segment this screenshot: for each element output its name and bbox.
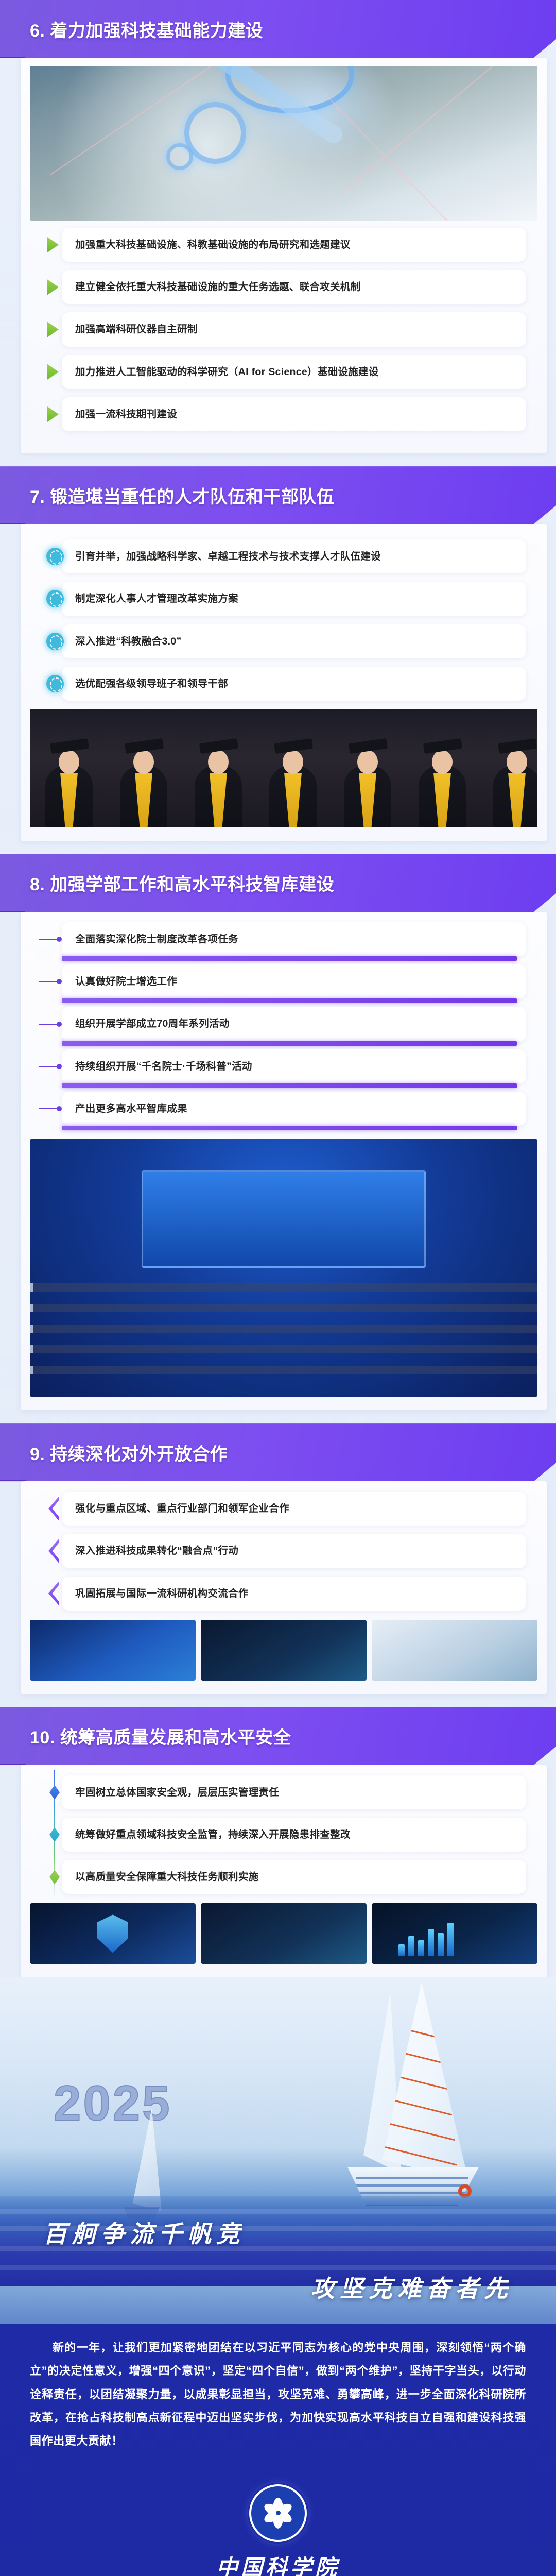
list-item[interactable]: 加强重大科技基础设施、科教基础设施的布局研究和选题建议 [62,228,526,262]
footer: 中国科学院 CHINESE ACADEMY OF SCIENCES [30,2452,526,2576]
shield-security-photo [30,1903,196,1964]
list-item[interactable]: 制定深化人事人才管理改革实施方案 [62,582,526,616]
section-10: 10. 统筹高质量发展和高水平安全 牢固树立总体国家安全观，层层压实管理责任 统… [0,1707,556,1978]
sail-batten [380,2121,455,2141]
bar-chart-icon [398,1923,454,1956]
list-item[interactable]: 加力推进人工智能驱动的科学研究（AI for Science）基础设施建设 [62,355,526,389]
facility-ring-small [166,143,193,170]
circle-marker-icon [46,590,64,607]
arrow-right-icon [47,406,59,422]
list-item[interactable]: 深入推进“科教融合3.0” [62,624,526,658]
audience-row [30,1366,537,1374]
arrow-line-icon [39,1064,62,1069]
graduation-ceremony-photo [30,709,537,827]
list-item[interactable]: 全面落实深化院士制度改革各项任务 [62,922,526,956]
arrow-line-icon [39,979,62,984]
list-item[interactable]: 建立健全依托重大科技基础设施的重大任务选题、联合攻关机制 [62,270,526,304]
arrow-line-icon [39,1106,62,1111]
circle-marker-icon [46,633,64,650]
list-item-text: 统筹做好重点领域科技安全监管，持续深入开展隐患排查整改 [75,1827,351,1842]
section-7-items: 引育并举，加强战略科学家、卓越工程技术与技术支撑人才队伍建设 制定深化人事人才管… [30,539,537,701]
section-8-items: 全面落实深化院士制度改革各项任务 认真做好院士增选工作 组织开展学部成立70周年… [30,922,537,1126]
section-8-card: 全面落实深化院士制度改革各项任务 认真做好院士增选工作 组织开展学部成立70周年… [21,912,547,1410]
hull-stripe [356,2177,468,2179]
divider-right [309,2539,499,2539]
list-item-text: 选优配强各级领导班子和领导干部 [75,676,228,691]
section-9-title: 9. 持续深化对外开放合作 [30,1440,228,1465]
emblem-core [275,2510,282,2516]
calligraphy-line-1: 百舸争流千帆竞 [23,2215,533,2249]
list-item[interactable]: 牢固树立总体国家安全观，层层压实管理责任 [62,1775,526,1809]
section-gap [0,1410,556,1423]
international-cooperation-photos [30,1620,537,1681]
sail-batten [398,2027,441,2039]
organization-name-cn: 中国科学院 [30,2550,526,2576]
graduate-face [283,750,303,774]
list-item-text: 加强重大科技基础设施、科教基础设施的布局研究和选题建议 [75,237,351,252]
small-sail [129,2108,162,2211]
data-chart-photo [372,1903,537,1964]
item-underline-bar [62,998,517,1003]
list-item-text: 建立健全依托重大科技基础设施的重大任务选题、联合攻关机制 [75,279,360,295]
item-underline-bar [62,1041,517,1046]
shield-icon [97,1914,128,1953]
aerial-science-facility-photo [30,66,537,221]
audience-row [30,1345,537,1353]
list-item[interactable]: 加强高端科研仪器自主研制 [62,312,526,346]
list-item[interactable]: 引育并举，加强战略科学家、卓越工程技术与技术支撑人才队伍建设 [62,539,526,573]
conference-screen [142,1170,426,1268]
arrow-right-icon [47,322,59,337]
section-8: 8. 加强学部工作和高水平科技智库建设 全面落实深化院士制度改革各项任务 认真做… [0,854,556,1410]
divider-left [57,2539,247,2539]
list-item[interactable]: 认真做好院士增选工作 [62,964,526,998]
list-item-text: 制定深化人事人才管理改革实施方案 [75,591,238,606]
list-item-text: 持续组织开展“千名院士·千场科普”活动 [75,1059,252,1074]
section-8-banner: 8. 加强学部工作和高水平科技智库建设 [0,854,556,912]
graduate-face [59,750,79,774]
section-7-banner: 7. 锻造堪当重任的人才队伍和干部队伍 [0,466,556,524]
section-gap [0,453,556,466]
list-item-text: 产出更多高水平智库成果 [75,1101,187,1116]
list-item-text: 加强高端科研仪器自主研制 [75,321,198,337]
laptop-typing-photo [201,1903,367,1964]
list-item-text: 牢固树立总体国家安全观，层层压实管理责任 [75,1785,279,1800]
chevron-left-icon [48,1497,59,1520]
audience-row [30,1283,537,1292]
section-7: 7. 锻造堪当重任的人才队伍和干部队伍 引育并举，加强战略科学家、卓越工程技术与… [0,466,556,841]
list-item-text: 强化与重点区域、重点行业部门和领军企业合作 [75,1501,289,1516]
handshake-photo [201,1620,367,1681]
list-item[interactable]: 深入推进科技成果转化“融合点”行动 [62,1534,526,1568]
list-item[interactable]: 统筹做好重点领域科技安全监管，持续深入开展隐患排查整改 [62,1818,526,1852]
academic-conference-hall-photo [30,1139,537,1397]
list-item[interactable]: 以高质量安全保障重大科技任务顺利实施 [62,1860,526,1894]
section-9-banner: 9. 持续深化对外开放合作 [0,1423,556,1481]
graduate-face [208,750,229,774]
conference-photo [30,1620,196,1681]
arrow-line-icon [39,1022,62,1027]
section-gap [0,1694,556,1707]
arrow-right-icon [47,237,59,252]
list-item-text: 组织开展学部成立70周年系列活动 [75,1016,230,1031]
circle-marker-icon [46,675,64,692]
section-10-items: 牢固树立总体国家安全观，层层压实管理责任 统筹做好重点领域科技安全监管，持续深入… [30,1775,537,1894]
section-9-items: 强化与重点区域、重点行业部门和领军企业合作 深入推进科技成果转化“融合点”行动 … [30,1492,537,1611]
item-underline-bar [62,1126,517,1130]
section-gap [0,841,556,854]
wave-line [0,2209,556,2214]
calligraphy-line-2: 攻坚克难奋者先 [23,2270,533,2304]
list-item-text: 认真做好院士增选工作 [75,974,177,989]
chevron-left-icon [48,1582,59,1605]
section-8-title: 8. 加强学部工作和高水平科技智库建设 [30,870,334,895]
infographic-page: 6. 着力加强科技基础能力建设 加强重大科技基础设施、科教基础设施的布局研究和选… [0,0,556,2576]
list-item[interactable]: 产出更多高水平智库成果 [62,1092,526,1126]
list-item[interactable]: 持续组织开展“千名院士·千场科普”活动 [62,1049,526,1083]
item-underline-bar [62,956,517,961]
arrow-right-icon [47,279,59,295]
sail-batten [392,2049,445,2064]
astronaut-photo [372,1620,537,1681]
list-item-text: 深入推进科技成果转化“融合点”行动 [75,1543,238,1558]
item-underline-bar [62,1083,517,1088]
section-9-card: 强化与重点区域、重点行业部门和领军企业合作 深入推进科技成果转化“融合点”行动 … [21,1481,547,1694]
hull-stripe [356,2192,468,2194]
closing-body: 新的一年，让我们更加紧密地团结在以习近平同志为核心的党中央周围，深刻领悟“两个确… [0,2324,556,2576]
hull-stripe [356,2184,468,2187]
graduate-face [507,750,527,774]
diamond-marker-icon [49,1785,60,1800]
section-6-card: 加强重大科技基础设施、科教基础设施的布局研究和选题建议 建立健全依托重大科技基础… [21,58,547,453]
facility-road-2 [318,87,505,221]
section-7-title: 7. 锻造堪当重任的人才队伍和干部队伍 [30,483,334,508]
list-item[interactable]: 加强一流科技期刊建设 [62,397,526,431]
diamond-marker-icon [49,1827,60,1842]
circle-marker-icon [46,548,64,565]
list-item-text: 加强一流科技期刊建设 [75,406,177,422]
facility-road-3 [338,66,505,196]
list-item-text: 全面落实深化院士制度改革各项任务 [75,931,238,947]
list-item-text: 引育并举，加强战略科学家、卓越工程技术与技术支撑人才队伍建设 [75,549,381,564]
diamond-marker-icon [49,1870,60,1884]
list-item-text: 以高质量安全保障重大科技任务顺利实施 [75,1869,258,1885]
section-6-title: 6. 着力加强科技基础能力建设 [30,16,263,42]
section-10-banner: 10. 统筹高质量发展和高水平安全 [0,1707,556,1765]
facility-ring-mid [184,102,246,164]
section-7-card: 引育并举，加强战略科学家、卓越工程技术与技术支撑人才队伍建设 制定深化人事人才管… [21,524,547,841]
section-10-title: 10. 统筹高质量发展和高水平安全 [30,1723,291,1749]
closing-paragraph: 新的一年，让我们更加紧密地团结在以习近平同志为核心的党中央周围，深刻领悟“两个确… [30,2336,526,2452]
calligraphy-block: 百舸争流千帆竞 攻坚克难奋者先 [0,2215,556,2324]
list-item-text: 巩固拓展与国际一流科研机构交流合作 [75,1586,249,1601]
security-technology-photos [30,1903,537,1964]
closing-section: 2025 [0,1977,556,2576]
audience-row [30,1325,537,1333]
list-item[interactable]: 组织开展学部成立70周年系列活动 [62,1007,526,1041]
section-9: 9. 持续深化对外开放合作 强化与重点区域、重点行业部门和领军企业合作 深入推进… [0,1423,556,1694]
list-item[interactable]: 巩固拓展与国际一流科研机构交流合作 [62,1577,526,1611]
section-6: 6. 着力加强科技基础能力建设 加强重大科技基础设施、科教基础设施的布局研究和选… [0,0,556,453]
audience-row [30,1304,537,1312]
list-item-text: 加力推进人工智能驱动的科学研究（AI for Science）基础设施建设 [75,364,379,380]
section-10-card: 牢固树立总体国家安全观，层层压实管理责任 统筹做好重点领域科技安全监管，持续深入… [21,1765,547,1978]
list-item-text: 深入推进“科教融合3.0” [75,634,182,649]
chevron-left-icon [48,1539,59,1563]
main-sailboat [309,1982,479,2225]
arrow-line-icon [39,937,62,942]
graduate-face [133,750,154,774]
list-item[interactable]: 强化与重点区域、重点行业部门和领军企业合作 [62,1492,526,1526]
graduate-face [432,750,453,774]
graduate-face [357,750,378,774]
section-6-items: 加强重大科技基础设施、科教基础设施的布局研究和选题建议 建立健全依托重大科技基础… [30,228,537,431]
cas-emblem-icon [249,2484,307,2542]
list-item[interactable]: 选优配强各级领导班子和领导干部 [62,667,526,701]
arrow-right-icon [47,364,59,380]
section-6-banner: 6. 着力加强科技基础能力建设 [0,0,556,58]
